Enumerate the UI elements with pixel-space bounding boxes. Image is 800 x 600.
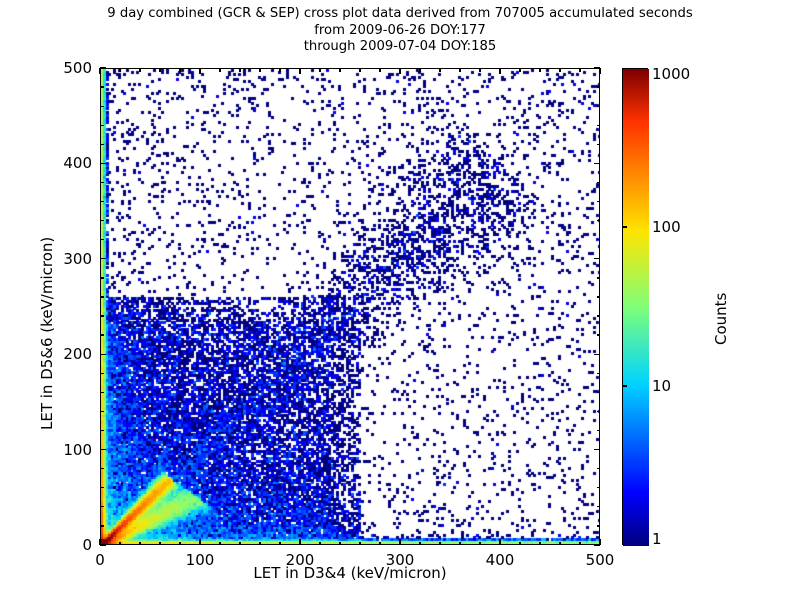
colorbar-tick-label: 10	[652, 377, 671, 395]
y-minor-tick	[100, 144, 104, 145]
x-major-tick	[199, 68, 200, 74]
x-major-tick	[499, 539, 500, 545]
y-minor-tick	[100, 125, 104, 126]
y-minor-tick	[597, 487, 601, 488]
x-minor-tick	[459, 68, 460, 72]
x-minor-tick	[359, 542, 360, 546]
y-major-tick	[594, 67, 600, 68]
x-minor-tick	[179, 542, 180, 546]
x-minor-tick	[439, 542, 440, 546]
y-minor-tick	[100, 487, 104, 488]
x-minor-tick	[319, 68, 320, 72]
x-minor-tick	[479, 542, 480, 546]
y-minor-tick	[100, 277, 104, 278]
y-minor-tick	[597, 468, 601, 469]
y-minor-tick	[100, 373, 104, 374]
x-minor-tick	[459, 542, 460, 546]
y-minor-tick	[100, 525, 104, 526]
y-major-tick	[100, 67, 106, 68]
y-minor-tick	[100, 411, 104, 412]
x-major-tick	[399, 68, 400, 74]
y-minor-tick	[100, 86, 104, 87]
y-major-tick	[100, 354, 106, 355]
y-minor-tick	[597, 239, 601, 240]
title-line-1: 9 day combined (GCR & SEP) cross plot da…	[0, 6, 800, 23]
x-major-tick	[299, 68, 300, 74]
y-minor-tick	[597, 296, 601, 297]
y-minor-tick	[597, 144, 601, 145]
y-minor-tick	[597, 430, 601, 431]
density-heatmap	[101, 69, 600, 545]
x-axis-label: LET in D3&4 (keV/micron)	[100, 564, 600, 582]
y-minor-tick	[597, 277, 601, 278]
y-tick-label: 200	[63, 345, 92, 363]
y-minor-tick	[597, 106, 601, 107]
x-minor-tick	[379, 68, 380, 72]
y-tick-label: 500	[63, 59, 92, 77]
y-major-tick	[100, 258, 106, 259]
figure-canvas: 9 day combined (GCR & SEP) cross plot da…	[0, 0, 800, 600]
x-major-tick	[399, 539, 400, 545]
x-major-tick	[499, 68, 500, 74]
y-major-tick	[100, 163, 106, 164]
y-minor-tick	[597, 86, 601, 87]
y-minor-tick	[597, 125, 601, 126]
y-minor-tick	[100, 468, 104, 469]
y-minor-tick	[597, 373, 601, 374]
y-minor-tick	[100, 334, 104, 335]
y-tick-label: 300	[63, 250, 92, 268]
x-minor-tick	[579, 542, 580, 546]
x-minor-tick	[359, 68, 360, 72]
y-minor-tick	[100, 430, 104, 431]
x-minor-tick	[279, 68, 280, 72]
x-minor-tick	[239, 68, 240, 72]
y-minor-tick	[100, 201, 104, 202]
colorbar: 1000100101	[622, 68, 648, 545]
y-minor-tick	[100, 315, 104, 316]
colorbar-tick-label: 100	[652, 218, 681, 236]
x-minor-tick	[119, 68, 120, 72]
y-minor-tick	[100, 106, 104, 107]
x-minor-tick	[219, 68, 220, 72]
x-minor-tick	[119, 542, 120, 546]
colorbar-label: Counts	[712, 293, 730, 345]
x-minor-tick	[419, 542, 420, 546]
y-major-tick	[594, 163, 600, 164]
x-major-tick	[299, 539, 300, 545]
y-major-tick	[594, 544, 600, 545]
x-minor-tick	[259, 68, 260, 72]
x-minor-tick	[479, 68, 480, 72]
plot-area	[100, 68, 600, 545]
x-minor-tick	[579, 68, 580, 72]
y-minor-tick	[597, 334, 601, 335]
x-minor-tick	[159, 68, 160, 72]
x-major-tick	[199, 539, 200, 545]
y-major-tick	[594, 449, 600, 450]
colorbar-tick-label: 1	[652, 530, 662, 548]
x-minor-tick	[139, 542, 140, 546]
y-minor-tick	[597, 506, 601, 507]
y-major-tick	[100, 449, 106, 450]
x-minor-tick	[419, 68, 420, 72]
y-major-tick	[100, 544, 106, 545]
x-minor-tick	[539, 68, 540, 72]
title-line-2: from 2009-06-26 DOY:177	[0, 23, 800, 40]
y-minor-tick	[100, 182, 104, 183]
x-minor-tick	[559, 68, 560, 72]
x-minor-tick	[259, 542, 260, 546]
y-axis-label: LET in D5&6 (keV/micron)	[38, 237, 56, 430]
y-minor-tick	[100, 239, 104, 240]
x-minor-tick	[539, 542, 540, 546]
x-minor-tick	[319, 542, 320, 546]
x-minor-tick	[559, 542, 560, 546]
x-minor-tick	[219, 542, 220, 546]
y-minor-tick	[100, 506, 104, 507]
y-minor-tick	[100, 220, 104, 221]
y-minor-tick	[597, 182, 601, 183]
y-tick-label: 0	[82, 536, 92, 554]
colorbar-tick	[622, 226, 627, 227]
x-minor-tick	[379, 542, 380, 546]
x-major-tick	[599, 68, 600, 74]
y-major-tick	[594, 354, 600, 355]
x-minor-tick	[439, 68, 440, 72]
y-tick-label: 100	[63, 441, 92, 459]
chart-title: 9 day combined (GCR & SEP) cross plot da…	[0, 6, 800, 56]
x-major-tick	[99, 68, 100, 74]
y-minor-tick	[597, 525, 601, 526]
y-minor-tick	[597, 411, 601, 412]
x-minor-tick	[519, 68, 520, 72]
title-line-3: through 2009-07-04 DOY:185	[0, 39, 800, 56]
y-minor-tick	[100, 392, 104, 393]
y-minor-tick	[597, 220, 601, 221]
colorbar-gradient	[622, 68, 648, 545]
x-minor-tick	[139, 68, 140, 72]
y-minor-tick	[597, 315, 601, 316]
x-minor-tick	[179, 68, 180, 72]
y-minor-tick	[597, 392, 601, 393]
x-minor-tick	[519, 542, 520, 546]
colorbar-tick	[622, 385, 627, 386]
y-major-tick	[594, 258, 600, 259]
colorbar-canvas	[623, 69, 649, 546]
colorbar-tick-label: 1000	[652, 65, 690, 83]
x-minor-tick	[239, 542, 240, 546]
y-tick-label: 400	[63, 154, 92, 172]
x-minor-tick	[279, 542, 280, 546]
x-minor-tick	[339, 68, 340, 72]
y-minor-tick	[100, 296, 104, 297]
x-minor-tick	[339, 542, 340, 546]
y-minor-tick	[597, 201, 601, 202]
x-minor-tick	[159, 542, 160, 546]
